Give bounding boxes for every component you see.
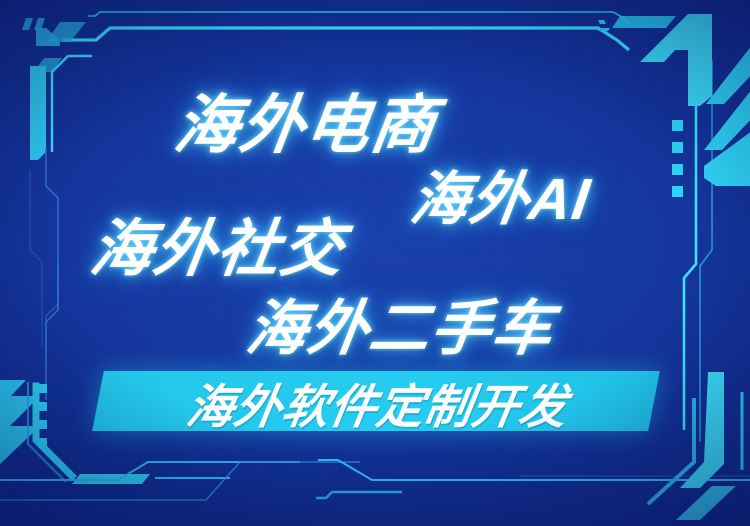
headline-ai: 海外AI xyxy=(406,152,596,236)
bottom-circuit-traces xyxy=(0,460,750,500)
headline-used-car: 海外二手车 xyxy=(242,280,560,367)
headline-ecommerce: 海外电商 xyxy=(170,74,444,166)
promo-banner: 海外电商 海外AI 海外社交 海外二手车 海外软件定制开发 xyxy=(0,0,750,526)
left-circuit-traces xyxy=(30,148,58,400)
top-frame-lines xyxy=(62,12,630,50)
corner-bracket-top-right xyxy=(598,14,750,186)
corner-bracket-bottom-right xyxy=(648,372,742,520)
ribbon-label-software-development: 海外软件定制开发 xyxy=(124,375,633,429)
headline-social: 海外社交 xyxy=(86,198,352,288)
